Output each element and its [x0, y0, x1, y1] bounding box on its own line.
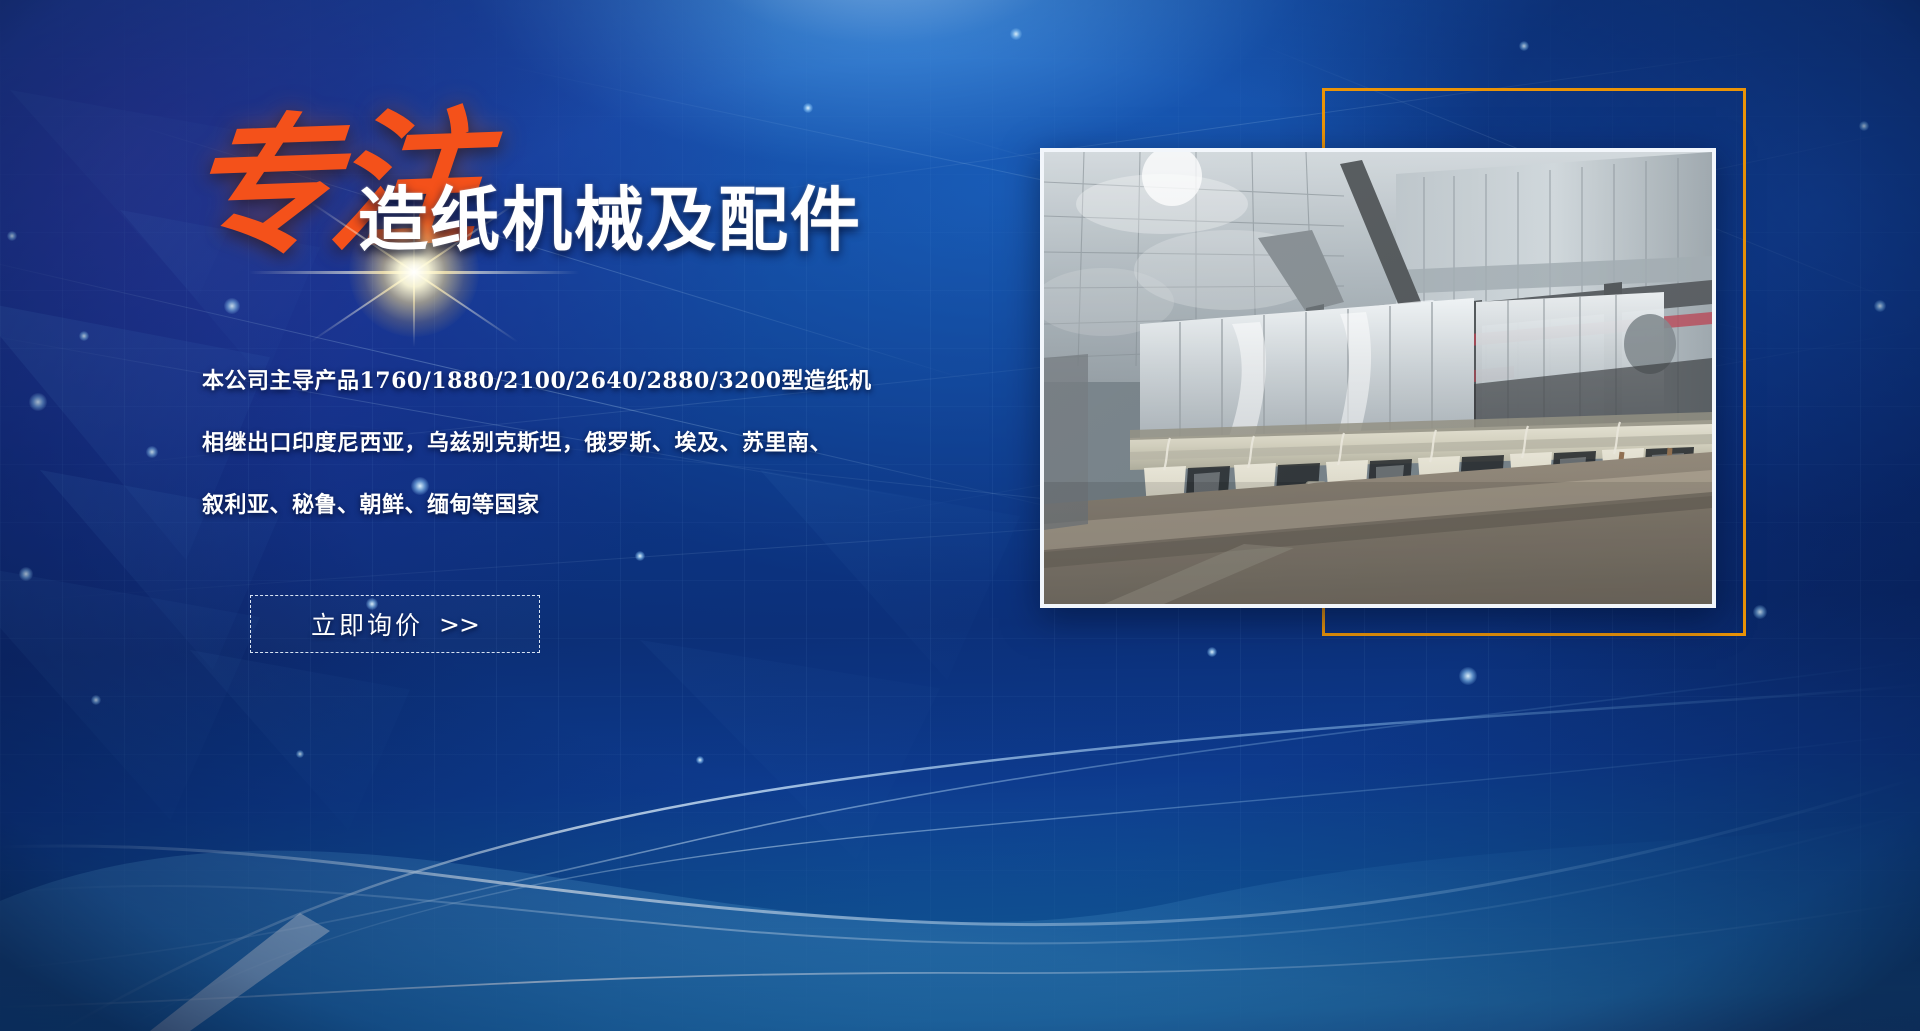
chevron-right-double-icon: >> [439, 610, 479, 639]
intro-line-2: 相继出口印度尼西亚，乌兹别克斯坦，俄罗斯、埃及、苏里南、 [202, 425, 842, 457]
intro-line-1: 本公司主导产品1760/1880/2100/2640/2880/3200型造纸机 [202, 363, 842, 395]
page-title: 造纸机械及配件 [358, 182, 862, 258]
inquiry-button[interactable]: 立即询价 >> [250, 595, 540, 653]
intro-paragraph: 本公司主导产品1760/1880/2100/2640/2880/3200型造纸机… [202, 363, 842, 519]
headline-block: 专注 造纸机械及配件 [186, 110, 886, 300]
intro-line-3: 叙利亚、秘鲁、朝鲜、缅甸等国家 [202, 487, 842, 519]
hero-copy: 专注 造纸机械及配件 本公司主导产品1760/1880/2100/2640/28… [0, 0, 900, 1031]
factory-photo[interactable]: 造纸机生产车间实景 [1040, 148, 1716, 608]
inquiry-button-label: 立即询价 [311, 606, 423, 642]
hero-banner: 专注 造纸机械及配件 本公司主导产品1760/1880/2100/2640/28… [0, 0, 1920, 1031]
